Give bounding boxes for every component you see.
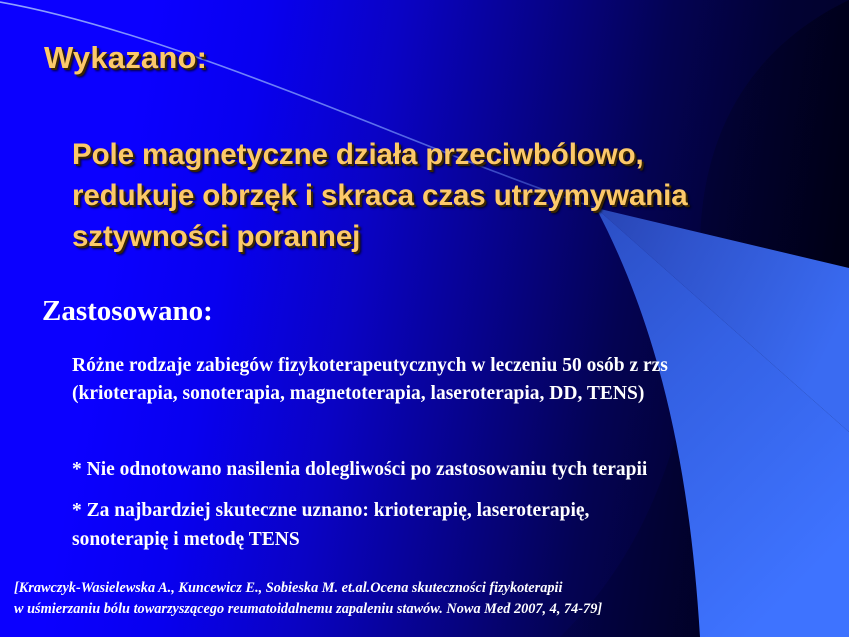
headline: Pole magnetyczne działa przeciwbólowo, r…: [72, 134, 849, 257]
citation: [Krawczyk-Wasielewska A., Kuncewicz E., …: [14, 578, 834, 620]
applied-heading: Zastosowano:: [42, 295, 213, 328]
headline-line-3: sztywności porannej: [72, 216, 849, 257]
method-paragraph-line-1: Różne rodzaje zabiegów fizykoterapeutycz…: [72, 352, 849, 380]
slide-title: Wykazano:: [44, 40, 207, 76]
list-item: * Za najbardziej skuteczne uznano: kriot…: [72, 496, 849, 554]
findings-item-1-line-1: * Nie odnotowano nasilenia dolegliwości …: [72, 455, 849, 484]
findings-item-2-line-1: * Za najbardziej skuteczne uznano: kriot…: [72, 496, 849, 525]
findings-item-2-line-2: sonoterapię i metodę TENS: [72, 525, 849, 554]
headline-line-2: redukuje obrzęk i skraca czas utrzymywan…: [72, 175, 849, 216]
findings-list: * Nie odnotowano nasilenia dolegliwości …: [72, 455, 849, 566]
headline-line-1: Pole magnetyczne działa przeciwbólowo,: [72, 134, 849, 175]
method-paragraph-line-2: (krioterapia, sonoterapia, magnetoterapi…: [72, 380, 849, 408]
presentation-slide: Wykazano: Pole magnetyczne działa przeci…: [0, 0, 849, 637]
citation-line-1: [Krawczyk-Wasielewska A., Kuncewicz E., …: [14, 578, 834, 599]
method-paragraph: Różne rodzaje zabiegów fizykoterapeutycz…: [72, 352, 849, 408]
citation-line-2: w uśmierzaniu bólu towarzyszącego reumat…: [14, 599, 834, 620]
list-item: * Nie odnotowano nasilenia dolegliwości …: [72, 455, 849, 484]
